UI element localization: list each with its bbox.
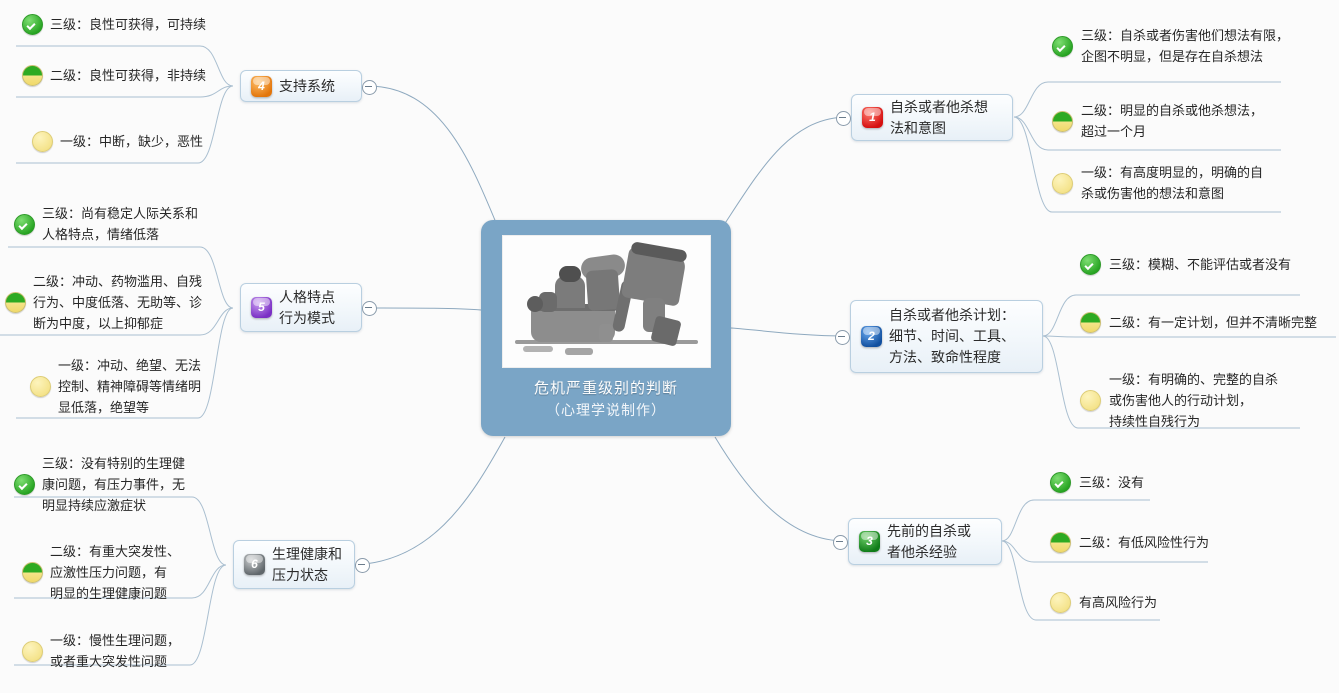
yellow-circle-icon xyxy=(32,131,53,152)
sub-item-3-2[interactable]: 二级：有低风险性行为 xyxy=(1050,532,1250,553)
sub-item-1-3[interactable]: 一级：有高度明显的，明确的自 杀或伤害他的想法和意图 xyxy=(1052,162,1322,204)
sub-text-3-2: 二级：有低风险性行为 xyxy=(1079,532,1209,553)
collapse-toggle-branch-3[interactable] xyxy=(833,535,848,550)
sub-item-6-3[interactable]: 一级：慢性生理问题， 或者重大突发性问题 xyxy=(22,630,212,672)
sub-item-3-1[interactable]: 三级：没有 xyxy=(1050,472,1250,493)
half-circle-icon xyxy=(5,292,26,313)
badge-number-4: 4 xyxy=(251,76,272,97)
sub-item-2-2[interactable]: 二级：有一定计划，但并不清晰完整 xyxy=(1080,312,1338,333)
sub-text-1-3: 一级：有高度明显的，明确的自 杀或伤害他的想法和意图 xyxy=(1081,162,1263,204)
yellow-circle-icon xyxy=(1050,592,1071,613)
badge-number-3: 3 xyxy=(859,531,880,552)
check-circle-icon xyxy=(1080,254,1101,275)
central-subtitle: （心理学说制作） xyxy=(481,400,731,421)
sub-item-5-3[interactable]: 一级：冲动、绝望、无法 控制、精神障碍等情绪明 显低落，绝望等 xyxy=(30,355,225,418)
check-circle-icon xyxy=(14,214,35,235)
branch-node-2[interactable]: 2 自杀或者他杀计划： 细节、时间、工具、 方法、致命性程度 xyxy=(850,300,1043,373)
sub-text-1-2: 二级：明显的自杀或他杀想法， 超过一个月 xyxy=(1081,100,1263,142)
yellow-circle-icon xyxy=(1052,173,1073,194)
mindmap-canvas: 危机严重级别的判断 （心理学说制作） 4 支持系统 三级：良性可获得，可持续 二… xyxy=(0,0,1339,693)
sub-item-5-1[interactable]: 三级：尚有稳定人际关系和 人格特点，情绪低落 xyxy=(14,203,224,245)
half-circle-icon xyxy=(1080,312,1101,333)
branch-node-5[interactable]: 5 人格特点 行为模式 xyxy=(240,283,362,332)
collapse-toggle-branch-5[interactable] xyxy=(362,301,377,316)
branch-node-1[interactable]: 1 自杀或者他杀想 法和意图 xyxy=(851,94,1013,141)
check-circle-icon xyxy=(1052,36,1073,57)
branch-label-3: 先前的自杀或 者他杀经验 xyxy=(887,521,971,563)
collapse-toggle-branch-1[interactable] xyxy=(836,111,851,126)
yellow-circle-icon xyxy=(1080,390,1101,411)
sub-item-2-3[interactable]: 一级：有明确的、完整的自杀 或伤害他人的行动计划， 持续性自残行为 xyxy=(1080,369,1335,432)
branch-label-6: 生理健康和 压力状态 xyxy=(272,544,342,586)
sub-item-1-2[interactable]: 二级：明显的自杀或他杀想法， 超过一个月 xyxy=(1052,100,1322,142)
sub-text-3-1: 三级：没有 xyxy=(1079,472,1144,493)
sub-text-4-2: 二级：良性可获得，非持续 xyxy=(50,65,206,86)
sub-text-1-1: 三级：自杀或者伤害他们想法有限， 企图不明显，但是存在自杀想法 xyxy=(1081,25,1289,67)
sub-item-4-1[interactable]: 三级：良性可获得，可持续 xyxy=(22,14,222,35)
sub-text-5-1: 三级：尚有稳定人际关系和 人格特点，情绪低落 xyxy=(42,203,198,245)
branch-node-3[interactable]: 3 先前的自杀或 者他杀经验 xyxy=(848,518,1002,565)
badge-number-1: 1 xyxy=(862,107,883,128)
branch-node-4[interactable]: 4 支持系统 xyxy=(240,70,362,102)
sub-text-2-2: 二级：有一定计划，但并不清晰完整 xyxy=(1109,312,1317,333)
yellow-circle-icon xyxy=(30,376,51,397)
sub-text-5-2: 二级：冲动、药物滥用、自残 行为、中度低落、无助等、诊 断为中度，以上抑郁症 xyxy=(33,271,202,334)
branch-label-1: 自杀或者他杀想 法和意图 xyxy=(890,97,988,139)
yellow-circle-icon xyxy=(22,641,43,662)
badge-number-6: 6 xyxy=(244,554,265,575)
branch-label-5: 人格特点 行为模式 xyxy=(279,287,335,329)
sub-text-4-1: 三级：良性可获得，可持续 xyxy=(50,14,206,35)
badge-number-2: 2 xyxy=(861,326,882,347)
collapse-toggle-branch-2[interactable] xyxy=(835,330,850,345)
branch-label-2: 自杀或者他杀计划： 细节、时间、工具、 方法、致命性程度 xyxy=(889,305,1015,368)
central-title: 危机严重级别的判断 xyxy=(481,378,731,400)
sub-item-6-1[interactable]: 三级：没有特别的生理健 康问题，有压力事件，无 明显持续应激症状 xyxy=(14,453,214,516)
sub-text-5-3: 一级：冲动、绝望、无法 控制、精神障碍等情绪明 显低落，绝望等 xyxy=(58,355,201,418)
branch-node-6[interactable]: 6 生理健康和 压力状态 xyxy=(233,540,355,589)
sub-text-6-2: 二级：有重大突发性、 应激性压力问题，有 明显的生理健康问题 xyxy=(50,541,180,604)
sub-item-4-3[interactable]: 一级：中断，缺少，恶性 xyxy=(32,131,232,152)
sub-text-2-3: 一级：有明确的、完整的自杀 或伤害他人的行动计划， 持续性自残行为 xyxy=(1109,369,1278,432)
half-circle-icon xyxy=(22,65,43,86)
half-circle-icon xyxy=(22,562,43,583)
half-circle-icon xyxy=(1050,532,1071,553)
sub-item-4-2[interactable]: 二级：良性可获得，非持续 xyxy=(22,65,222,86)
sub-text-3-3: 有高风险行为 xyxy=(1079,592,1157,613)
sub-text-4-3: 一级：中断，缺少，恶性 xyxy=(60,131,203,152)
check-circle-icon xyxy=(1050,472,1071,493)
check-circle-icon xyxy=(22,14,43,35)
collapse-toggle-branch-6[interactable] xyxy=(355,558,370,573)
cartoon-illustration xyxy=(502,235,711,368)
badge-number-5: 5 xyxy=(251,297,272,318)
sub-text-6-3: 一级：慢性生理问题， 或者重大突发性问题 xyxy=(50,630,180,672)
sub-item-6-2[interactable]: 二级：有重大突发性、 应激性压力问题，有 明显的生理健康问题 xyxy=(22,541,212,604)
sub-text-2-1: 三级：模糊、不能评估或者没有 xyxy=(1109,254,1291,275)
sub-item-1-1[interactable]: 三级：自杀或者伤害他们想法有限， 企图不明显，但是存在自杀想法 xyxy=(1052,25,1322,67)
sub-item-5-2[interactable]: 二级：冲动、药物滥用、自残 行为、中度低落、无助等、诊 断为中度，以上抑郁症 xyxy=(5,271,223,334)
collapse-toggle-branch-4[interactable] xyxy=(362,80,377,95)
branch-label-4: 支持系统 xyxy=(279,76,335,97)
check-circle-icon xyxy=(14,474,35,495)
sub-item-3-3[interactable]: 有高风险行为 xyxy=(1050,592,1250,613)
half-circle-icon xyxy=(1052,111,1073,132)
central-node[interactable]: 危机严重级别的判断 （心理学说制作） xyxy=(481,220,731,436)
sub-text-6-1: 三级：没有特别的生理健 康问题，有压力事件，无 明显持续应激症状 xyxy=(42,453,185,516)
sub-item-2-1[interactable]: 三级：模糊、不能评估或者没有 xyxy=(1080,254,1335,275)
